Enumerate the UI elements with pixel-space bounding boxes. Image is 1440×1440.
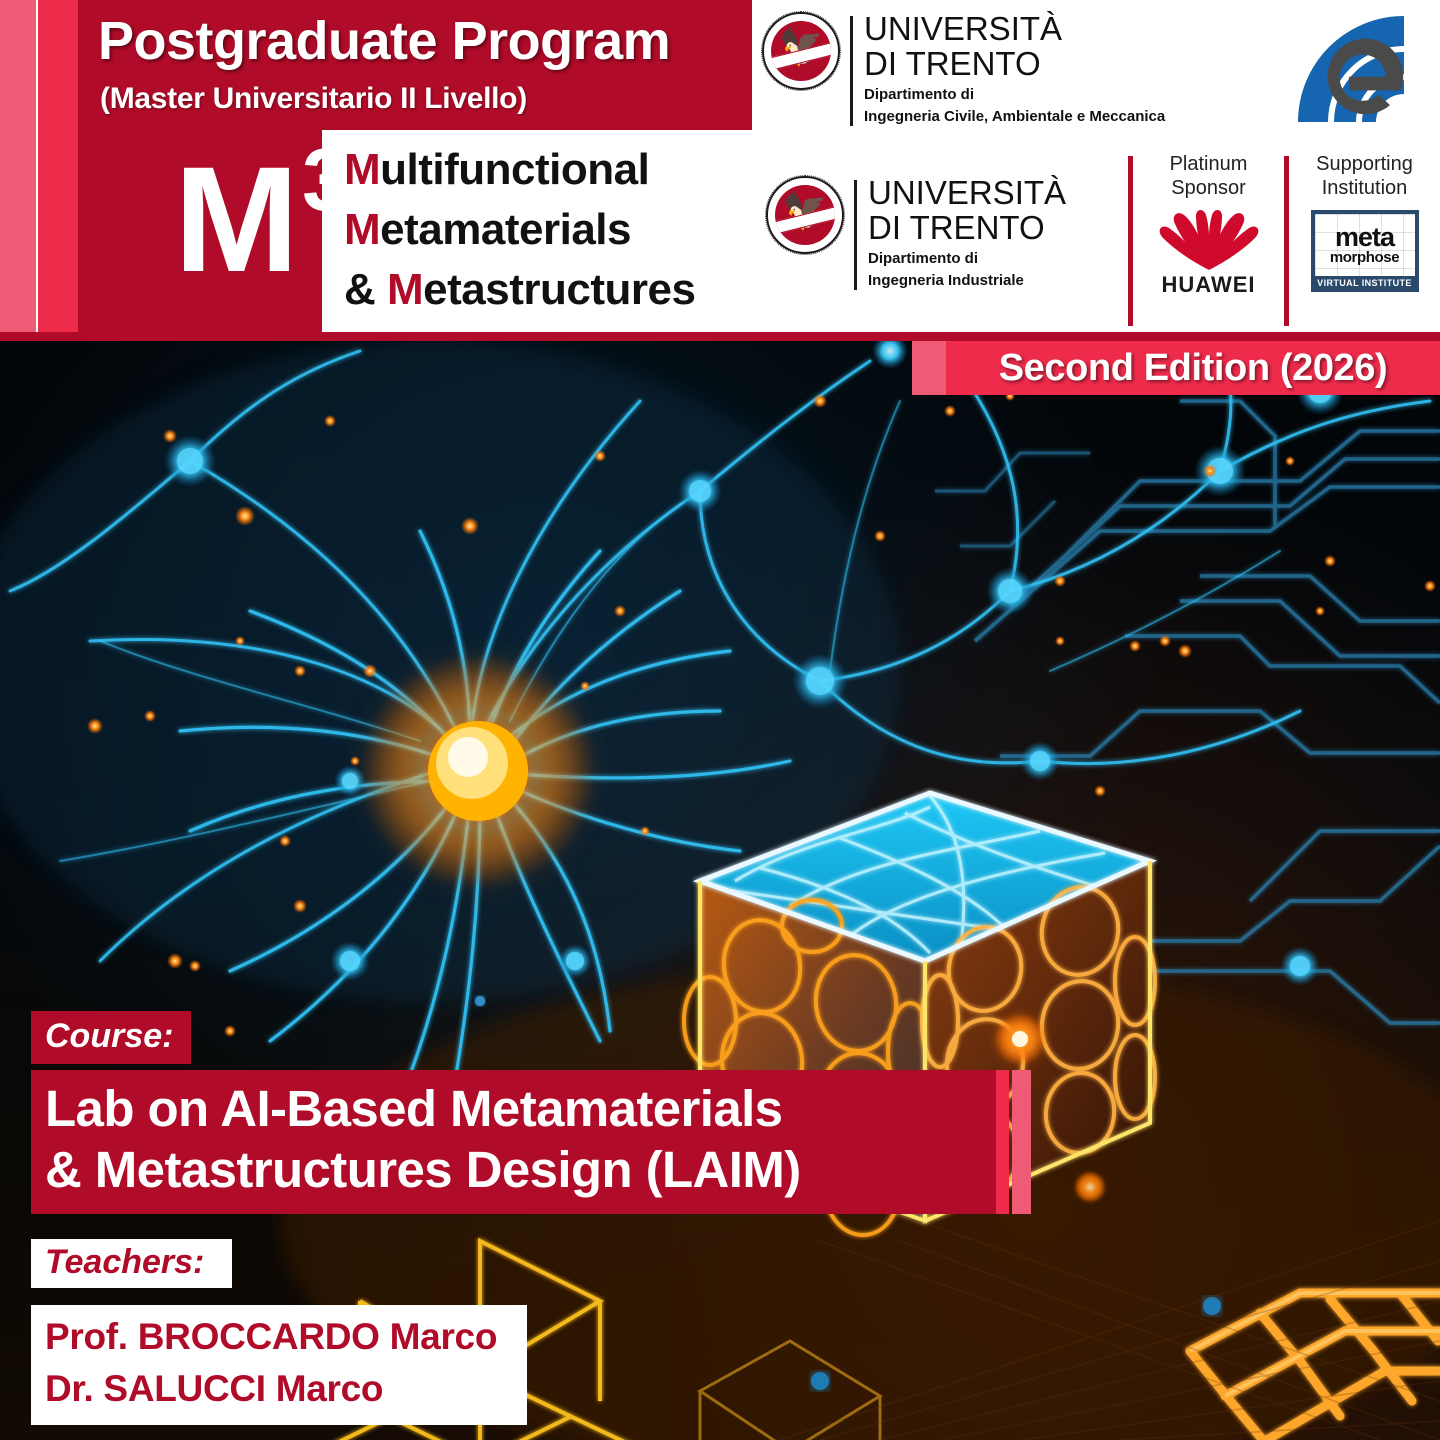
- header-edge-pink: [0, 0, 36, 332]
- metamorphose-logo-icon: meta morphose VIRTUAL INSTITUTE: [1311, 210, 1419, 292]
- edition-banner: Second Edition (2026): [912, 341, 1440, 395]
- edition-banner-body: Second Edition (2026): [946, 341, 1440, 395]
- m3-name-line-1: Multifunctional: [344, 140, 695, 200]
- eledia-logo-icon: [1292, 10, 1412, 128]
- course-label-text: Course:: [45, 1017, 173, 1055]
- unitn-dept-line-1: Dipartimento di: [864, 86, 1165, 104]
- huawei-wordmark: HUAWEI: [1162, 272, 1256, 298]
- teachers-label-badge: Teachers:: [31, 1239, 232, 1288]
- course-title-line-1: Lab on AI-Based Metamaterials: [45, 1078, 978, 1139]
- edition-label: Second Edition (2026): [999, 347, 1388, 390]
- supporting-institution: Supporting Institution meta morphose VIR…: [1289, 152, 1440, 332]
- unitn-seal-icon: 🦅: [762, 12, 840, 90]
- m3-name-line-2: Metamaterials: [344, 200, 695, 260]
- platinum-sponsor-label-1: Platinum: [1170, 152, 1248, 176]
- teachers-names-box: Prof. BROCCARDO Marco Dr. SALUCCI Marco: [31, 1305, 527, 1425]
- metamorphose-word-1: meta: [1335, 224, 1394, 250]
- unitn-name-line-1: UNIVERSITÀ: [868, 176, 1066, 210]
- teacher-name: Dr. SALUCCI Marco: [45, 1363, 497, 1415]
- unitn-name-line-2: DI TRENTO: [868, 210, 1066, 246]
- neuron-core: [360, 653, 596, 889]
- supporting-institution-label-1: Supporting: [1316, 152, 1413, 176]
- m3-name-line-3: & Metastructures: [344, 260, 695, 320]
- course-title-stripe-pink: [1012, 1070, 1031, 1214]
- course-title-body: Lab on AI-Based Metamaterials & Metastru…: [31, 1070, 996, 1214]
- course-title-line-2: & Metastructures Design (LAIM): [45, 1139, 978, 1200]
- header-edge-crimson: [38, 0, 78, 332]
- unitn-dii-logo: 🦅 UNIVERSITÀ DI TRENTO Dipartimento di I…: [766, 176, 1066, 290]
- supporting-institution-label-2: Institution: [1322, 176, 1408, 200]
- unitn-name-line-1: UNIVERSITÀ: [864, 12, 1165, 46]
- poster-root: Postgraduate Program (Master Universitar…: [0, 0, 1440, 1440]
- page-subtitle: (Master Universitario II Livello): [100, 82, 740, 116]
- teachers-label-text: Teachers:: [45, 1243, 204, 1281]
- unitn-dicam-logo: 🦅 UNIVERSITÀ DI TRENTO Dipartimento di I…: [762, 12, 1165, 126]
- unitn-name-line-2: DI TRENTO: [864, 46, 1165, 82]
- sponsors-block: Platinum Sponsor HUAWEI: [1128, 152, 1440, 332]
- huawei-logo-icon: [1153, 206, 1265, 272]
- page-title: Postgraduate Program: [98, 10, 738, 72]
- logo-divider: [850, 16, 853, 126]
- m3-letter: M: [174, 144, 299, 294]
- course-title-bar: Lab on AI-Based Metamaterials & Metastru…: [31, 1070, 1031, 1214]
- course-title-stripe-crimson: [996, 1070, 1009, 1214]
- teacher-name: Prof. BROCCARDO Marco: [45, 1311, 497, 1363]
- platinum-sponsor: Platinum Sponsor HUAWEI: [1133, 152, 1284, 332]
- edition-banner-accent: [912, 341, 946, 395]
- course-label-badge: Course:: [31, 1011, 191, 1064]
- unitn-dept-line-2: Ingegneria Industriale: [868, 272, 1066, 290]
- platinum-sponsor-label-2: Sponsor: [1171, 176, 1246, 200]
- m3-name-lines: Multifunctional Metamaterials & Metastru…: [344, 140, 695, 320]
- poster-header: Postgraduate Program (Master Universitar…: [0, 0, 1440, 332]
- logo-divider: [854, 180, 857, 290]
- unitn-dept-line-1: Dipartimento di: [868, 250, 1066, 268]
- metamorphose-word-2: morphose: [1330, 250, 1399, 266]
- unitn-dept-line-2: Ingegneria Civile, Ambientale e Meccanic…: [864, 108, 1165, 126]
- unitn-seal-icon: 🦅: [766, 176, 844, 254]
- header-bottom-rule: [0, 332, 1440, 341]
- metamorphose-footer: VIRTUAL INSTITUTE: [1315, 276, 1415, 288]
